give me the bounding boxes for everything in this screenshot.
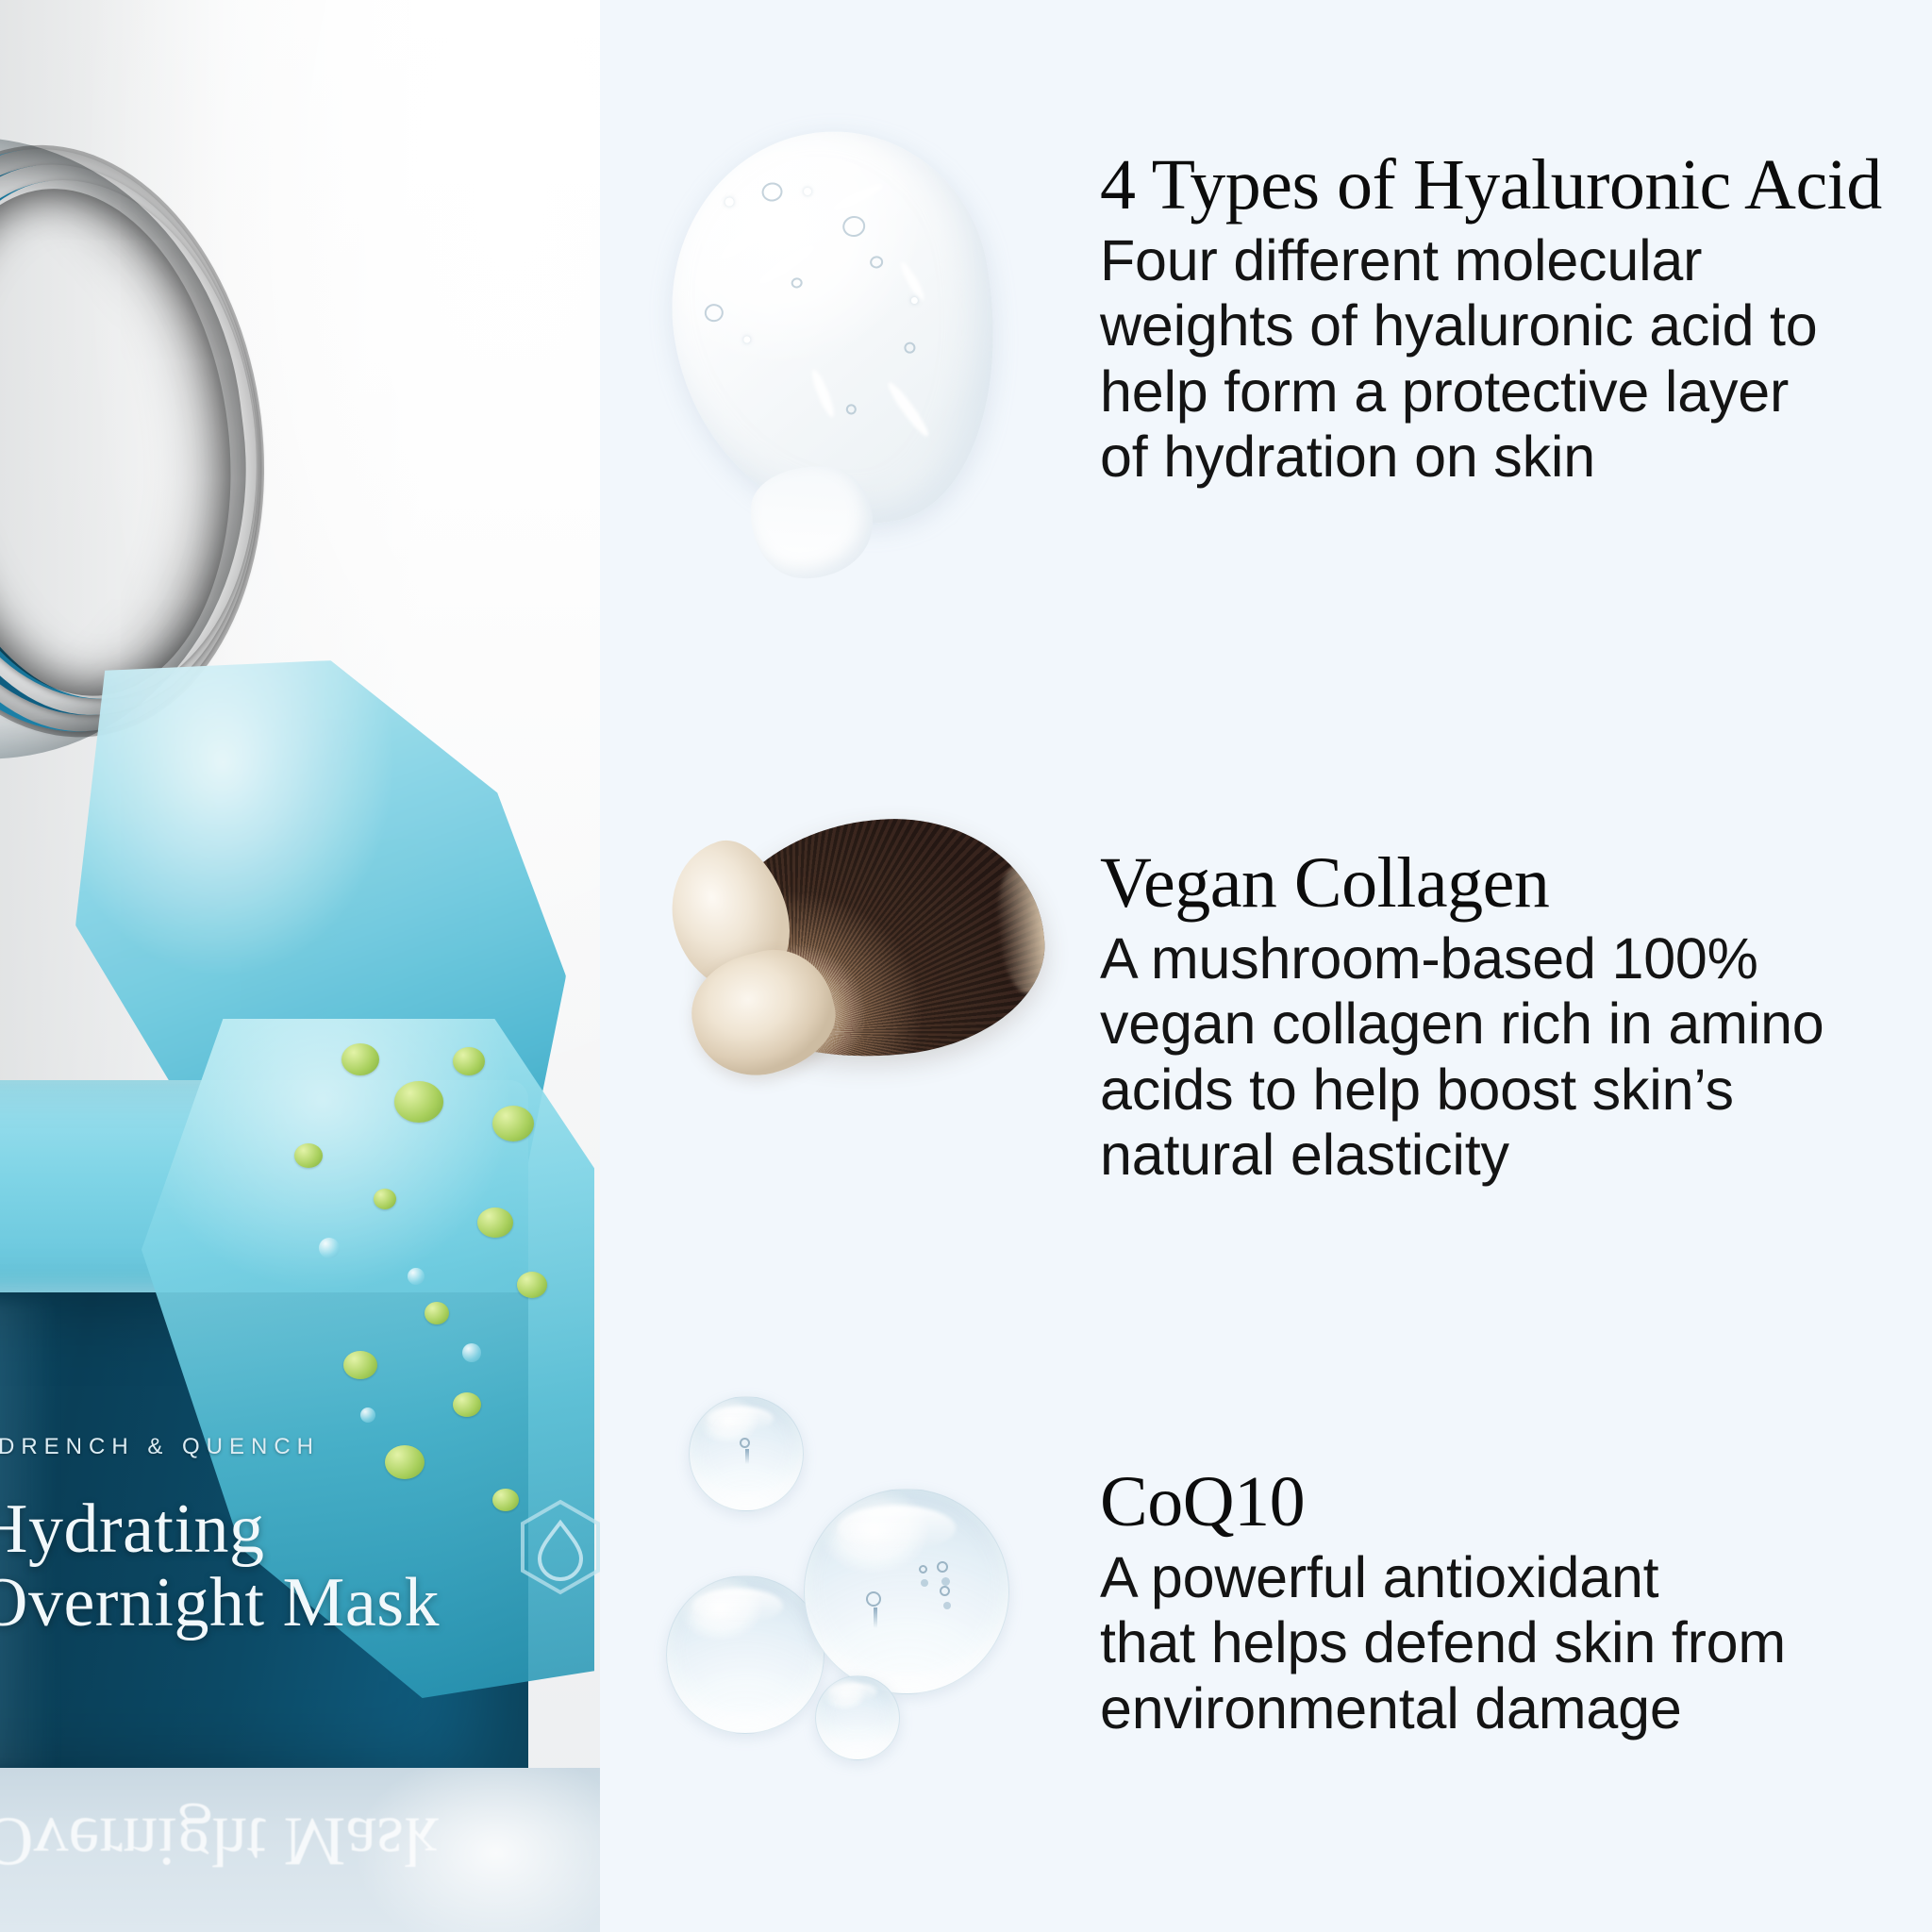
feature-body-line: A powerful antioxidant [1100, 1545, 1892, 1611]
features-panel: 4 Types of Hyaluronic Acid Four differen… [600, 0, 1932, 1932]
mushroom-icon [666, 811, 1062, 1123]
feature-description: A powerful antioxidant that helps defend… [1100, 1545, 1892, 1742]
feature-body-line: Four different molecular [1100, 228, 1892, 294]
droplet-large [804, 1489, 1009, 1694]
water-drop-hexagon-icon [517, 1498, 600, 1596]
gel-swatch-icon [666, 142, 1062, 538]
droplet-tiny-bottom [815, 1675, 900, 1760]
feature-body-line: of hydration on skin [1100, 425, 1892, 491]
feature-description: Four different molecular weights of hyal… [1100, 228, 1892, 491]
product-label-name: Hydrating Overnight Mask [0, 1492, 468, 1641]
feature-title: 4 Types of Hyaluronic Acid [1100, 149, 1932, 223]
feature-item: CoQ10 A powerful antioxidant that helps … [600, 1396, 1932, 1774]
product-name-line-1: Hydrating [0, 1491, 265, 1568]
feature-body-line: A mushroom-based 100% [1100, 926, 1892, 992]
feature-body-line: environmental damage [1100, 1676, 1892, 1742]
feature-title: Vegan Collagen [1100, 847, 1932, 921]
reflection-gloss [355, 1768, 600, 1932]
jar-reflection: Overnight Mask [0, 1768, 600, 1932]
feature-body-line: acids to help boost skin’s [1100, 1058, 1892, 1124]
product-label: DRENCH & QUENCH Hydrating Overnight Mask [0, 1434, 468, 1641]
feature-title: CoQ10 [1100, 1466, 1932, 1540]
product-image-panel: DRENCH & QUENCH Hydrating Overnight Mask… [0, 0, 600, 1932]
feature-body-line: vegan collagen rich in amino [1100, 991, 1892, 1058]
water-droplets-icon [666, 1396, 1062, 1774]
feature-text: 4 Types of Hyaluronic Acid Four differen… [1062, 142, 1932, 491]
feature-item: 4 Types of Hyaluronic Acid Four differen… [600, 142, 1932, 538]
feature-body-line: weights of hyaluronic acid to [1100, 293, 1892, 359]
droplet-medium-left [666, 1575, 824, 1734]
feature-body-line: natural elasticity [1100, 1123, 1892, 1189]
feature-body-line: that helps defend skin from [1100, 1610, 1892, 1676]
feature-description: A mushroom-based 100% vegan collagen ric… [1100, 926, 1892, 1189]
feature-text: Vegan Collagen A mushroom-based 100% veg… [1062, 792, 1932, 1189]
feature-item: Vegan Collagen A mushroom-based 100% veg… [600, 792, 1932, 1189]
feature-body-line: help form a protective layer [1100, 359, 1892, 425]
product-label-eyebrow: DRENCH & QUENCH [0, 1434, 468, 1460]
product-name-line-2: Overnight Mask [0, 1566, 468, 1640]
droplet-small-top [689, 1396, 804, 1511]
product-feature-infographic: DRENCH & QUENCH Hydrating Overnight Mask… [0, 0, 1932, 1932]
feature-text: CoQ10 A powerful antioxidant that helps … [1062, 1396, 1932, 1741]
